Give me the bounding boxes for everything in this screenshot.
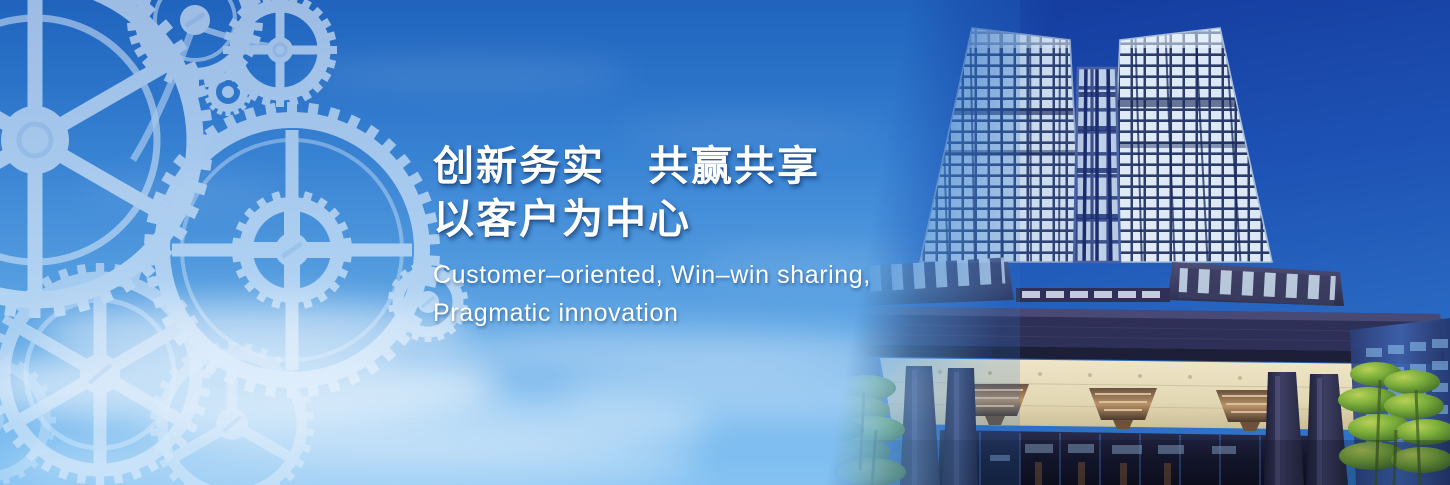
subtitle-line-2: Pragmatic innovation	[433, 294, 871, 332]
subtitle-line-1: Customer–oriented, Win–win sharing,	[433, 256, 871, 294]
headline-line-2: 以客户为中心	[433, 193, 871, 246]
twin-tower-office-building-photo	[820, 0, 1450, 485]
company-slogan-banner: 创新务实 共赢共享 以客户为中心 Customer–oriented, Win–…	[0, 0, 1450, 485]
headline-line-1: 创新务实 共赢共享	[433, 140, 871, 193]
slogan-text-block: 创新务实 共赢共享 以客户为中心 Customer–oriented, Win–…	[433, 140, 871, 332]
